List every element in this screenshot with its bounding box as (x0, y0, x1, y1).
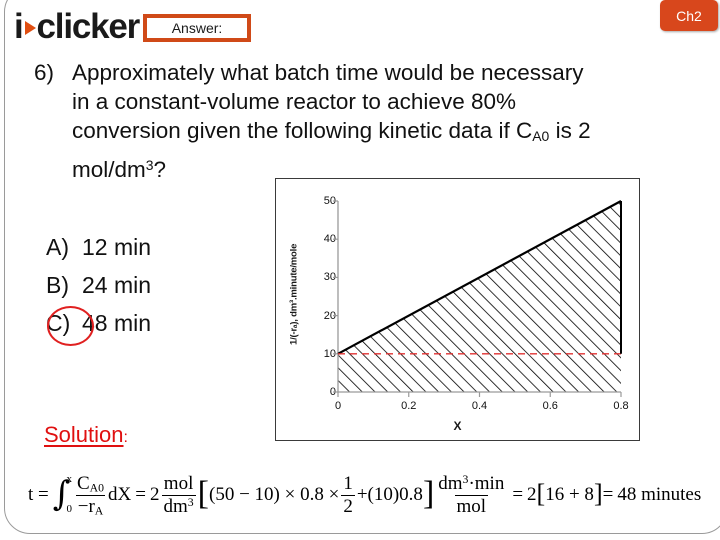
formula-fraction-ca0-ra: CA0 −rA (75, 473, 106, 518)
choice-b-text: 24 min (82, 272, 151, 298)
answer-label: Answer: (172, 20, 223, 36)
play-triangle-icon (25, 21, 36, 35)
formula-unit2-num: dm3·min (436, 473, 506, 494)
logo-word: clicker (37, 7, 140, 47)
chart-shaded-region (338, 201, 621, 392)
integral-upper-limit: x (66, 474, 72, 486)
formula-unit-dm3min-per-mol: dm3·min mol (436, 473, 506, 517)
formula-frac1-den-sub: A (95, 504, 104, 517)
correct-answer-circle-annotation (47, 306, 94, 346)
solution-formula: t = ∫ x 0 CA0 −rA dX = 2 mol dm3 [ (50 −… (28, 466, 708, 524)
answer-choices: A)12 min B)24 min C)48 min (46, 228, 151, 342)
solution-colon: : (124, 429, 128, 446)
formula-plus: + (357, 484, 368, 506)
formula-frac1-num-text: C (77, 473, 90, 494)
formula-coefficient: 2 (150, 484, 160, 506)
formula-frac1-den-text: −r (78, 496, 95, 517)
formula-lhs: t = (28, 484, 49, 506)
question-line-4b: ? (154, 157, 167, 182)
formula-left-bracket-2: [ (537, 479, 546, 509)
question-line-1: Approximately what batch time would be n… (72, 60, 584, 85)
formula-frac1-num: CA0 (75, 473, 106, 495)
formula-result: 48 minutes (617, 484, 701, 506)
question-line-3b: is 2 (549, 118, 590, 143)
question-number: 6) (34, 58, 68, 87)
chapter-badge-label: Ch2 (676, 8, 702, 24)
chart-plot-area (276, 179, 641, 442)
chapter-badge: Ch2 (660, 0, 718, 31)
formula-half-num: 1 (341, 473, 355, 494)
choice-a[interactable]: A)12 min (46, 228, 151, 266)
question-text: Approximately what batch time would be n… (72, 58, 684, 184)
formula-unit1-den-text: dm (164, 496, 188, 517)
formula-unit1-den: dm3 (162, 495, 196, 517)
question-line-2: in a constant-volume reactor to achieve … (72, 89, 516, 114)
formula-right-bracket-2: ] (594, 479, 603, 509)
formula-half-den: 2 (341, 495, 355, 517)
solution-heading: Solution: (44, 422, 128, 448)
kinetic-data-chart: 1/(-rₐ), dm³.minute/mole X 01020304050 0… (275, 178, 640, 441)
formula-one-half: 1 2 (341, 473, 355, 517)
choice-b[interactable]: B)24 min (46, 266, 151, 304)
formula-left-bracket: [ (198, 475, 209, 513)
choice-a-label: A) (46, 228, 82, 266)
formula-unit2-den: mol (455, 495, 489, 517)
question-line-4-sup: 3 (146, 157, 154, 173)
formula-dx: dX (108, 484, 131, 506)
answer-box[interactable]: Answer: (143, 14, 251, 42)
formula-term-1: (50 − 10) × 0.8 × (209, 484, 339, 506)
logo-i: i (14, 7, 23, 47)
choice-a-text: 12 min (82, 234, 151, 260)
question-line-3-sub: A0 (532, 128, 549, 144)
formula-equals-1: = (135, 484, 146, 506)
formula-frac1-num-sub: A0 (90, 481, 104, 494)
formula-unit2-num-text: dm (438, 473, 462, 494)
integral-lower-limit: 0 (66, 504, 72, 516)
formula-unit-mol-per-dm3: mol dm3 (162, 473, 196, 517)
question-line-4a: mol/dm (72, 157, 146, 182)
formula-unit2-num-dot: ·min (468, 473, 504, 494)
iclicker-logo: iclicker (14, 8, 139, 46)
formula-bracket-inner: 16 + 8 (545, 484, 594, 506)
formula-unit1-num: mol (162, 473, 196, 494)
question-line-3a: conversion given the following kinetic d… (72, 118, 532, 143)
formula-equals-2: = (512, 484, 523, 506)
formula-unit1-den-sup: 3 (188, 496, 194, 509)
formula-frac1-den: −rA (76, 495, 106, 518)
formula-term-2: (10)0.8 (368, 484, 423, 506)
question-block: 6) Approximately what batch time would b… (34, 58, 684, 184)
formula-right-bracket: ] (423, 475, 434, 513)
choice-b-label: B) (46, 266, 82, 304)
slide: iclicker Answer: Ch2 6) Approximately wh… (0, 0, 720, 540)
formula-equals-3: = (603, 484, 614, 506)
solution-label: Solution (44, 422, 124, 447)
chart-inner: 1/(-rₐ), dm³.minute/mole X 01020304050 0… (276, 179, 639, 440)
formula-coefficient-2: 2 (527, 484, 537, 506)
